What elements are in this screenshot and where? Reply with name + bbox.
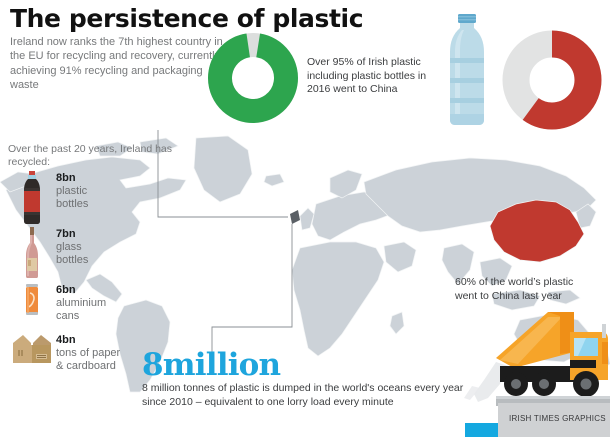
list-item-label: aluminium cans: [56, 297, 106, 323]
aluminium-can-icon: [8, 283, 56, 317]
credit-accent-bar: [465, 423, 498, 437]
big-stat-description: 8 million tonnes of plastic is dumped in…: [142, 382, 472, 409]
irish-plastic-note: Over 95% of Irish plastic including plas…: [307, 56, 432, 97]
big-stat-value: 8million: [142, 350, 280, 381]
intro-paragraph: Ireland now ranks the 7th highest countr…: [10, 35, 225, 92]
dump-truck-illustration: [452, 306, 610, 411]
list-item-label: glass bottles: [56, 241, 88, 267]
list-item: 6bn aluminium cans: [8, 283, 148, 333]
plastic-bottle-illustration: [444, 14, 490, 131]
glass-bottle-icon: [8, 227, 56, 279]
list-item: 8bn plastic bottles: [8, 171, 148, 227]
ireland-marker: [290, 210, 300, 224]
list-item-amount: 6bn: [56, 284, 106, 297]
cardboard-box-icon: [8, 333, 56, 365]
list-item-amount: 7bn: [56, 228, 88, 241]
plastic-bottle-icon: [8, 171, 56, 225]
list-item-amount: 4bn: [56, 334, 120, 347]
credit-label: IRISH TIMES GRAPHICS: [509, 414, 606, 423]
recycled-lead-text: Over the past 20 years, Ireland has recy…: [8, 143, 208, 170]
irish-plastic-donut-chart: [207, 32, 299, 124]
page-title: The persistence of plastic: [10, 5, 363, 32]
list-item-label: plastic bottles: [56, 185, 88, 211]
list-item: 7bn glass bottles: [8, 227, 148, 283]
recycled-items-list: 8bn plastic bottles 7bn glass bottles: [8, 171, 148, 379]
world-plastic-note: 60% of the world’s plastic went to China…: [455, 276, 595, 303]
world-plastic-donut-chart: [502, 30, 602, 130]
list-item: 4bn tons of paper & cardboard: [8, 333, 148, 379]
list-item-amount: 8bn: [56, 172, 88, 185]
list-item-label: tons of paper & cardboard: [56, 347, 120, 373]
infographic-root: The persistence of plastic Ireland now r…: [0, 0, 610, 437]
